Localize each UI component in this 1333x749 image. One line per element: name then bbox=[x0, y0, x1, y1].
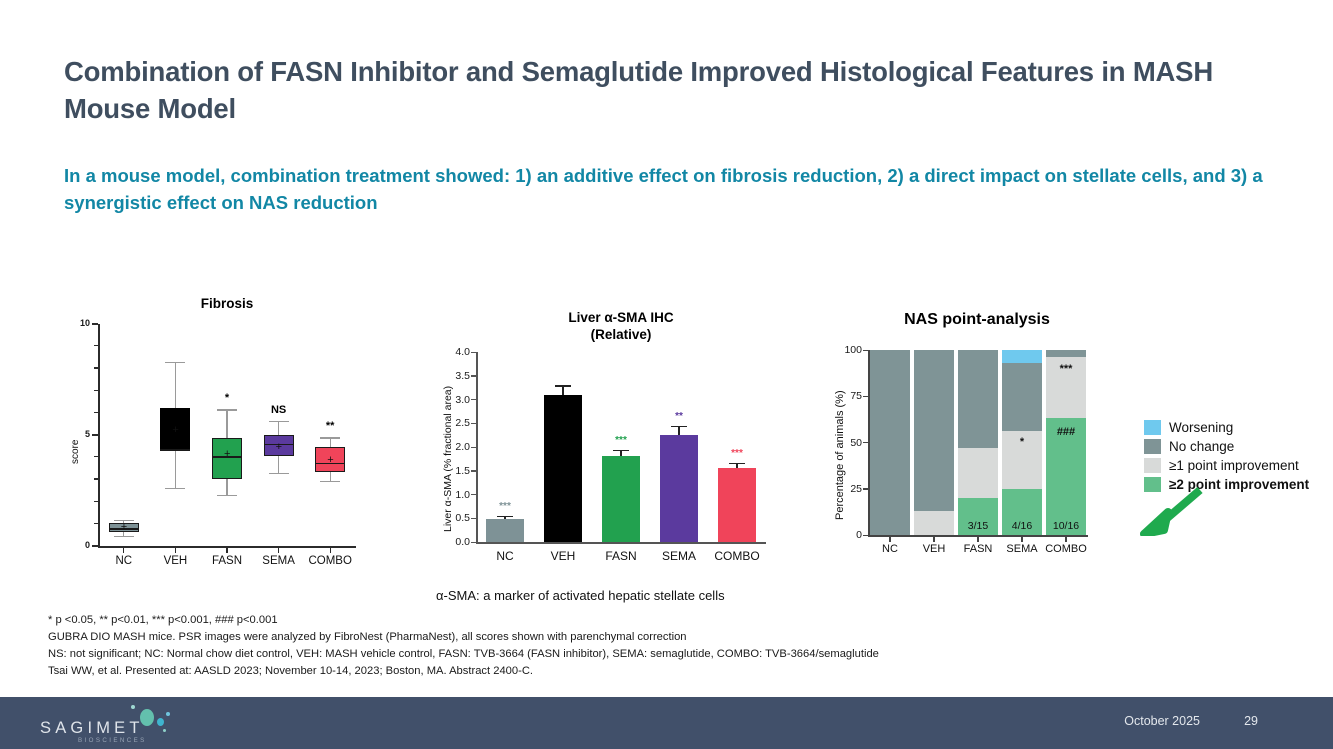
chart-fibrosis-ylabel: score bbox=[70, 440, 81, 464]
mean-marker: + bbox=[327, 455, 333, 466]
significance-marker: *** bbox=[715, 448, 759, 459]
logo-dot-icon bbox=[131, 705, 135, 709]
slide-footer: SAGIMET BIOSCIENCES October 2025 29 bbox=[0, 697, 1333, 749]
significance-marker: *** bbox=[483, 501, 527, 512]
x-category-label: COMBO bbox=[296, 555, 364, 567]
legend-swatch bbox=[1144, 458, 1161, 473]
x-axis bbox=[476, 542, 766, 544]
y-tick-label: 3.0 bbox=[442, 394, 470, 406]
footnote-line: Tsai WW, et al. Presented at: AASLD 2023… bbox=[48, 663, 1148, 680]
significance-marker: NS bbox=[259, 404, 299, 416]
chart-fibrosis-plot: 0510+NC+VEH+*FASN+NSSEMA+**COMBO bbox=[98, 324, 356, 546]
y-tick bbox=[94, 501, 98, 502]
significance-marker: ** bbox=[657, 411, 701, 422]
y-tick bbox=[94, 345, 98, 346]
whisker-cap bbox=[217, 409, 237, 410]
legend-label: Worsening bbox=[1169, 420, 1233, 435]
y-tick-label: 4.0 bbox=[442, 346, 470, 358]
fraction-label: 3/15 bbox=[958, 520, 998, 532]
footnote-line: * p <0.05, ** p<0.01, *** p<0.001, ### p… bbox=[48, 612, 1148, 629]
x-tick bbox=[1021, 537, 1022, 542]
x-tick bbox=[175, 548, 176, 553]
chart-nas-title: NAS point-analysis bbox=[862, 310, 1092, 330]
stacked-bar: 3/15 bbox=[958, 350, 998, 535]
y-tick bbox=[94, 367, 98, 368]
bar bbox=[718, 468, 756, 542]
x-tick bbox=[933, 537, 934, 542]
y-tick-label: 0.0 bbox=[442, 536, 470, 548]
x-category-label: COMBO bbox=[703, 549, 771, 563]
legend-label: ≥1 point improvement bbox=[1169, 458, 1299, 473]
footer-page-number: 29 bbox=[1244, 714, 1258, 728]
significance-marker: *** bbox=[1048, 363, 1084, 375]
mean-marker: + bbox=[276, 442, 282, 453]
page-title: Combination of FASN Inhibitor and Semagl… bbox=[64, 54, 1244, 127]
bar-segment bbox=[1002, 350, 1042, 363]
y-tick-label: 1.5 bbox=[442, 465, 470, 477]
x-tick bbox=[330, 548, 331, 553]
chart-asma-title: Liver α-SMA IHC bbox=[568, 310, 673, 325]
whisker-cap bbox=[269, 421, 289, 422]
stacked-bar bbox=[914, 350, 954, 535]
y-tick bbox=[471, 352, 476, 353]
y-tick bbox=[471, 542, 476, 543]
y-tick bbox=[863, 396, 868, 397]
y-tick bbox=[471, 518, 476, 519]
legend-swatch bbox=[1144, 420, 1161, 435]
y-tick bbox=[471, 399, 476, 400]
chart-nas: NAS point-analysis Percentage of animals… bbox=[822, 310, 1167, 585]
legend-swatch bbox=[1144, 439, 1161, 454]
bar-segment bbox=[958, 350, 998, 448]
mean-marker: + bbox=[172, 425, 178, 436]
x-tick bbox=[889, 537, 890, 542]
fraction-label: 10/16 bbox=[1046, 520, 1086, 532]
y-axis bbox=[98, 324, 100, 546]
y-axis bbox=[476, 352, 478, 542]
stacked-bar: 10/16 bbox=[1046, 350, 1086, 535]
y-tick-label: 0 bbox=[70, 540, 90, 550]
asma-caption: α-SMA: a marker of activated hepatic ste… bbox=[436, 588, 725, 603]
y-tick bbox=[471, 470, 476, 471]
mean-marker: + bbox=[121, 522, 127, 533]
significance-marker: ### bbox=[1048, 426, 1084, 438]
logo-dot-icon bbox=[166, 712, 170, 716]
median-line bbox=[160, 449, 190, 451]
y-tick bbox=[92, 545, 98, 547]
y-tick bbox=[471, 447, 476, 448]
error-bar-cap bbox=[729, 463, 745, 465]
bar-segment bbox=[870, 350, 910, 535]
whisker-cap bbox=[165, 362, 185, 363]
x-tick bbox=[1065, 537, 1066, 542]
y-tick-label: 10 bbox=[70, 318, 90, 328]
significance-marker: *** bbox=[599, 435, 643, 446]
sagimet-logo: SAGIMET BIOSCIENCES bbox=[36, 703, 186, 745]
whisker-cap bbox=[114, 536, 134, 537]
legend-item: ≥1 point improvement bbox=[1144, 456, 1309, 475]
logo-wordmark: SAGIMET bbox=[40, 719, 144, 738]
whisker-cap bbox=[320, 481, 340, 482]
bar bbox=[660, 435, 698, 542]
chart-nas-ylabel: Percentage of animals (%) bbox=[834, 390, 846, 520]
y-tick bbox=[92, 434, 98, 436]
logo-tagline: BIOSCIENCES bbox=[78, 737, 147, 744]
x-tick bbox=[278, 548, 279, 553]
y-tick bbox=[471, 494, 476, 495]
y-tick bbox=[94, 523, 98, 524]
error-bar-cap bbox=[555, 385, 571, 387]
highlight-arrow-icon bbox=[1138, 486, 1208, 536]
y-tick bbox=[863, 350, 868, 351]
chart-asma-title-line2: (Relative) bbox=[591, 327, 652, 342]
legend-label: No change bbox=[1169, 439, 1234, 454]
bar-segment bbox=[1046, 350, 1086, 357]
chart-asma-plot: 0.00.51.01.52.02.53.03.54.0***NCVEH***FA… bbox=[476, 352, 766, 542]
y-tick-label: 0 bbox=[836, 529, 862, 541]
bar-segment bbox=[958, 448, 998, 498]
significance-marker: * bbox=[1004, 436, 1040, 448]
bar-segment bbox=[914, 511, 954, 535]
y-tick bbox=[94, 390, 98, 391]
significance-marker: ** bbox=[310, 420, 350, 432]
y-tick-label: 0.5 bbox=[442, 512, 470, 524]
fraction-label: 4/16 bbox=[1002, 520, 1042, 532]
chart-asma: Liver α-SMA IHC (Relative) Liver α-SMA (… bbox=[428, 300, 828, 605]
y-tick-label: 2.5 bbox=[442, 417, 470, 429]
bar-segment bbox=[1002, 363, 1042, 431]
error-bar-cap bbox=[671, 426, 687, 428]
y-tick bbox=[863, 535, 868, 536]
y-tick-label: 1.0 bbox=[442, 489, 470, 501]
y-tick-label: 3.5 bbox=[442, 370, 470, 382]
bar bbox=[486, 519, 524, 542]
logo-dot-icon bbox=[157, 718, 164, 726]
y-tick-label: 50 bbox=[836, 437, 862, 449]
bar bbox=[544, 395, 582, 542]
y-tick-label: 100 bbox=[836, 344, 862, 356]
y-tick-label: 5 bbox=[70, 429, 90, 439]
footnote-line: NS: not significant; NC: Normal chow die… bbox=[48, 646, 1148, 663]
y-tick bbox=[92, 323, 98, 325]
y-tick-label: 75 bbox=[836, 390, 862, 402]
x-tick bbox=[977, 537, 978, 542]
page-subtitle: In a mouse model, combination treatment … bbox=[64, 163, 1264, 217]
bar bbox=[602, 456, 640, 542]
x-category-label: COMBO bbox=[1036, 543, 1096, 555]
whisker-cap bbox=[269, 473, 289, 474]
footnote-line: GUBRA DIO MASH mice. PSR images were ana… bbox=[48, 629, 1148, 646]
logo-dot-icon bbox=[163, 729, 166, 732]
stacked-bar bbox=[870, 350, 910, 535]
y-tick-label: 2.0 bbox=[442, 441, 470, 453]
legend-item: No change bbox=[1144, 437, 1309, 456]
chart-nas-plot: 0255075100NCVEH3/15FASN4/16SEMA10/16COMB… bbox=[868, 350, 1088, 535]
y-tick bbox=[94, 456, 98, 457]
chart-asma-ylabel: Liver α-SMA (% fractional area) bbox=[442, 386, 454, 532]
y-tick bbox=[863, 488, 868, 489]
legend-item: Worsening bbox=[1144, 418, 1309, 437]
significance-marker: * bbox=[207, 392, 247, 404]
y-tick-label: 25 bbox=[836, 483, 862, 495]
whisker-cap bbox=[217, 495, 237, 496]
chart-nas-legend: WorseningNo change≥1 point improvement≥2… bbox=[1144, 418, 1309, 494]
whisker-cap bbox=[320, 437, 340, 438]
chart-fibrosis: Fibrosis score 0510+NC+VEH+*FASN+NSSEMA+… bbox=[60, 292, 400, 592]
mean-marker: + bbox=[224, 449, 230, 460]
error-bar-cap bbox=[497, 516, 513, 518]
whisker-cap bbox=[165, 488, 185, 489]
footnotes: * p <0.05, ** p<0.01, *** p<0.001, ### p… bbox=[48, 612, 1148, 680]
y-tick bbox=[94, 412, 98, 413]
y-tick bbox=[94, 478, 98, 479]
chart-fibrosis-title: Fibrosis bbox=[98, 296, 356, 313]
footer-date: October 2025 bbox=[1124, 714, 1200, 728]
error-bar-cap bbox=[613, 450, 629, 452]
y-tick bbox=[471, 375, 476, 376]
x-tick bbox=[226, 548, 227, 553]
bar-segment bbox=[914, 350, 954, 511]
y-tick bbox=[471, 423, 476, 424]
y-tick bbox=[863, 442, 868, 443]
x-tick bbox=[123, 548, 124, 553]
